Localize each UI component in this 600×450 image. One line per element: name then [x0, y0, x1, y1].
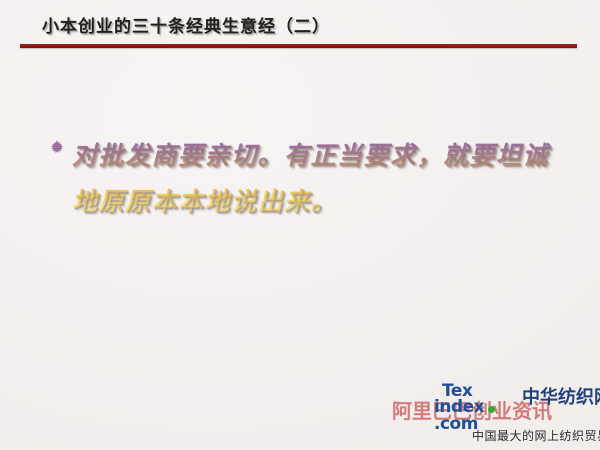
logo-green-dot-icon: [488, 406, 495, 413]
watermark-area: 阿里巴巴创业资讯 Tex index .com 中华纺织网 中国最大的网上纺织贸…: [392, 381, 600, 450]
watermark-site-name: 中华纺织网: [522, 383, 600, 409]
body-block: 对批发商要亲切。有正当要求，就要坦诚地原原本本地说出来。: [48, 133, 568, 225]
maple-leaf-bullet-icon: [48, 139, 66, 161]
bullet-text: 对批发商要亲切。有正当要求，就要坦诚地原原本本地说出来。: [72, 133, 568, 225]
texindex-logomark: Tex index .com: [434, 383, 520, 423]
title-block: 小本创业的三十条经典生意经（二）: [20, 14, 578, 48]
slide-canvas: 小本创业的三十条经典生意经（二） 对批发商要亲切。有正当要求，就要坦诚地原原本本…: [0, 0, 600, 450]
page-title: 小本创业的三十条经典生意经（二）: [20, 14, 578, 40]
title-divider-rule: [20, 44, 577, 48]
watermark-texindex-logo: Tex index .com 中华纺织网 中国最大的网上纺织贸易市场: [434, 381, 600, 450]
bullet-list-item: 对批发商要亲切。有正当要求，就要坦诚地原原本本地说出来。: [48, 133, 568, 225]
watermark-tagline: 中国最大的网上纺织贸易市场: [472, 427, 600, 444]
